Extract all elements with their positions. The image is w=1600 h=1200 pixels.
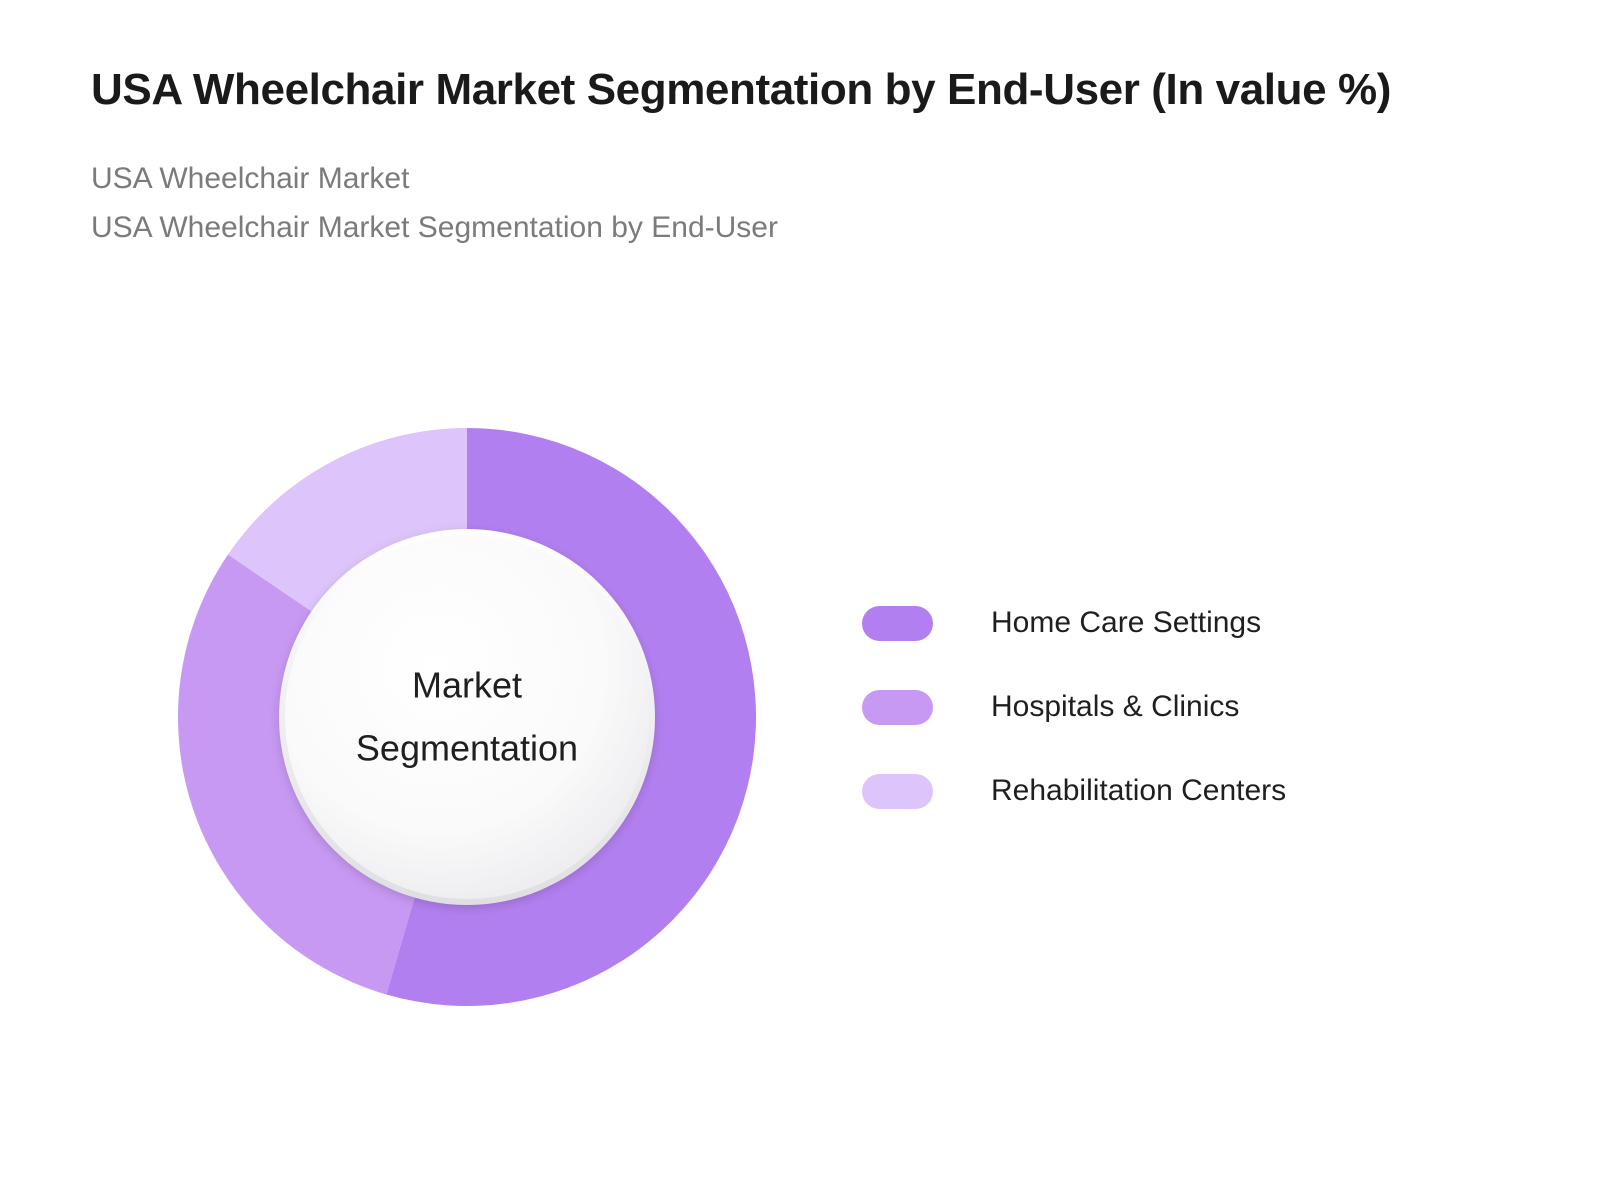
chart-header: USA Wheelchair Market Segmentation by En…: [91, 58, 1411, 253]
page-title: USA Wheelchair Market Segmentation by En…: [91, 58, 1411, 121]
chart-subtitle: USA Wheelchair Market USA Wheelchair Mar…: [91, 155, 1411, 252]
donut-hole: [285, 535, 649, 899]
legend-item-home-care-settings[interactable]: Home Care Settings: [862, 581, 1286, 665]
chart-page: USA Wheelchair Market Segmentation by En…: [0, 0, 1600, 1200]
legend-item-hospitals-clinics[interactable]: Hospitals & Clinics: [862, 665, 1286, 749]
legend-item-rehabilitation-centers[interactable]: Rehabilitation Centers: [862, 749, 1286, 833]
legend-swatch-icon: [862, 774, 933, 809]
legend-item-label: Home Care Settings: [991, 608, 1261, 638]
legend-swatch-icon: [862, 606, 933, 641]
subtitle-line-2: USA Wheelchair Market Segmentation by En…: [91, 204, 1411, 253]
donut-svg: [178, 428, 756, 1006]
legend-swatch-icon: [862, 690, 933, 725]
legend-item-label: Hospitals & Clinics: [991, 692, 1239, 722]
donut-chart: Market Segmentation: [178, 428, 756, 1006]
chart-legend: Home Care Settings Hospitals & Clinics R…: [862, 581, 1286, 833]
legend-item-label: Rehabilitation Centers: [991, 776, 1286, 806]
chart-area: Market Segmentation Home Care Settings H…: [0, 395, 1600, 1045]
subtitle-line-1: USA Wheelchair Market: [91, 155, 1411, 204]
